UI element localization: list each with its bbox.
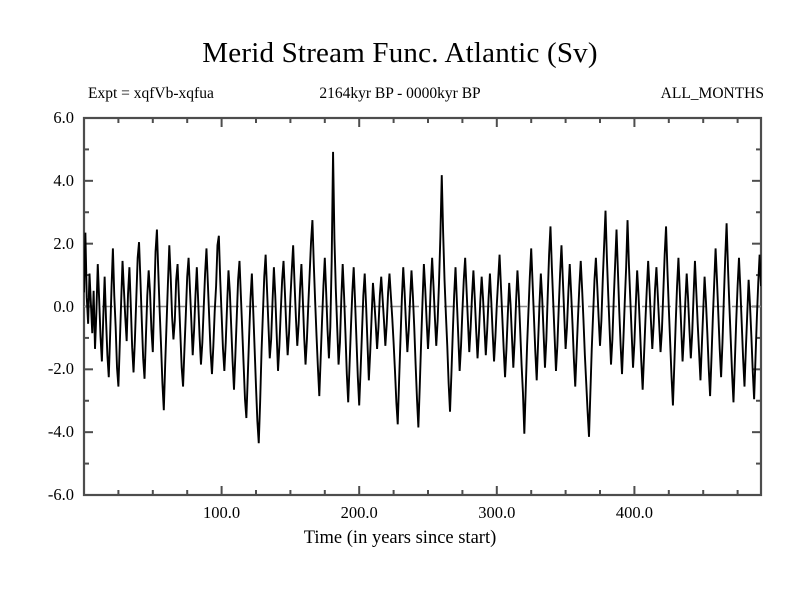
x-tick-label: 400.0 <box>594 505 674 521</box>
x-tick-label: 100.0 <box>182 505 262 521</box>
data-series-line <box>84 152 761 443</box>
plot-area <box>0 0 800 600</box>
y-tick-label: 4.0 <box>22 173 74 189</box>
x-tick-label: 300.0 <box>457 505 537 521</box>
y-tick-label: -4.0 <box>22 424 74 440</box>
y-tick-label: -6.0 <box>22 487 74 503</box>
x-tick-label: 200.0 <box>319 505 399 521</box>
chart-figure: Merid Stream Func. Atlantic (Sv) Expt = … <box>0 0 800 600</box>
y-tick-label: 2.0 <box>22 236 74 252</box>
y-tick-label: 6.0 <box>22 110 74 126</box>
y-tick-label: 0.0 <box>22 299 74 315</box>
y-tick-label: -2.0 <box>22 361 74 377</box>
